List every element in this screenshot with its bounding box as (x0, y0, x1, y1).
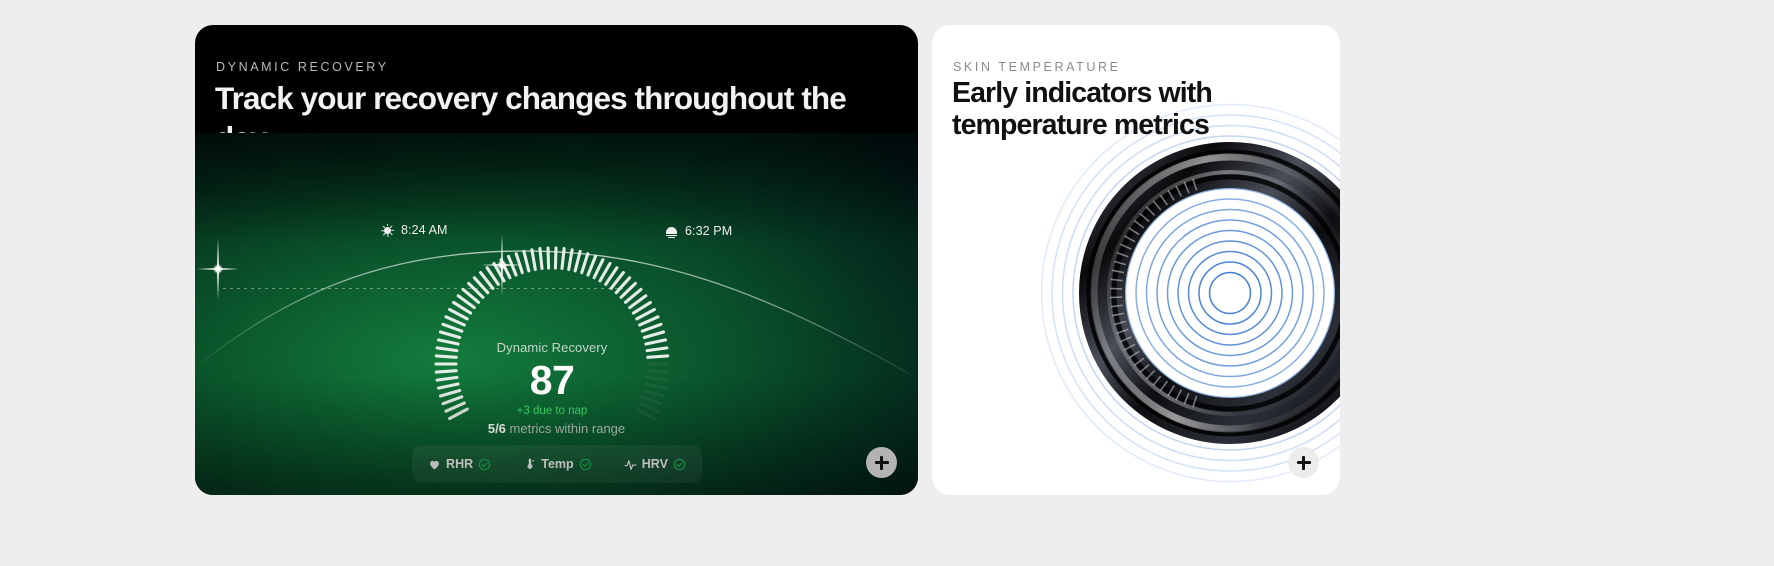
metrics-summary: 5/6 metrics within range (195, 421, 918, 436)
metric-pill-rhr[interactable]: RHR (428, 457, 491, 471)
pulse-icon (624, 458, 637, 471)
sunrise-time-label: 8:24 AM (401, 223, 448, 237)
card-skin-temperature[interactable]: SKIN TEMPERATURE Early indicators with t… (932, 25, 1340, 495)
gauge-label: Dynamic Recovery (497, 340, 608, 355)
sensor-waves-and-ring (1020, 83, 1340, 495)
card-dynamic-recovery[interactable]: DYNAMIC RECOVERY Track your recovery cha… (195, 25, 918, 495)
timestamp-sunrise: 8:24 AM (381, 223, 448, 237)
check-icon (673, 458, 686, 471)
gauge-delta: +3 due to nap (517, 405, 588, 417)
heart-icon (428, 458, 441, 471)
thermometer-icon (523, 458, 536, 471)
metric-pill-rhr-label: RHR (446, 457, 473, 471)
metric-pill-hrv-label: HRV (642, 457, 668, 471)
metrics-summary-text: metrics within range (506, 421, 625, 436)
temperature-headline: Early indicators with temperature metric… (952, 78, 1252, 141)
metrics-pill-bar[interactable]: RHR Temp (412, 445, 702, 483)
gauge-value: 87 (530, 355, 575, 405)
sunrise-flare-icon (217, 268, 219, 270)
moon-icon (665, 225, 678, 238)
sun-icon (381, 224, 394, 237)
check-icon (478, 458, 491, 471)
timestamp-sunset: 6:32 PM (665, 224, 732, 238)
metric-pill-hrv[interactable]: HRV (624, 457, 686, 471)
add-temperature-button[interactable] (1288, 447, 1319, 478)
add-recovery-button[interactable] (866, 447, 897, 478)
metrics-count: 5/6 (488, 421, 506, 436)
recovery-visual: 8:24 AM 6:32 PM Dynamic Recovery 87 (195, 133, 918, 495)
metric-pill-temp[interactable]: Temp (523, 457, 591, 471)
recovery-eyebrow: DYNAMIC RECOVERY (216, 60, 389, 74)
temperature-eyebrow: SKIN TEMPERATURE (953, 60, 1121, 74)
page-root: DYNAMIC RECOVERY Track your recovery cha… (0, 0, 1774, 566)
sunset-time-label: 6:32 PM (685, 224, 732, 238)
metric-pill-temp-label: Temp (541, 457, 573, 471)
check-icon (579, 458, 592, 471)
